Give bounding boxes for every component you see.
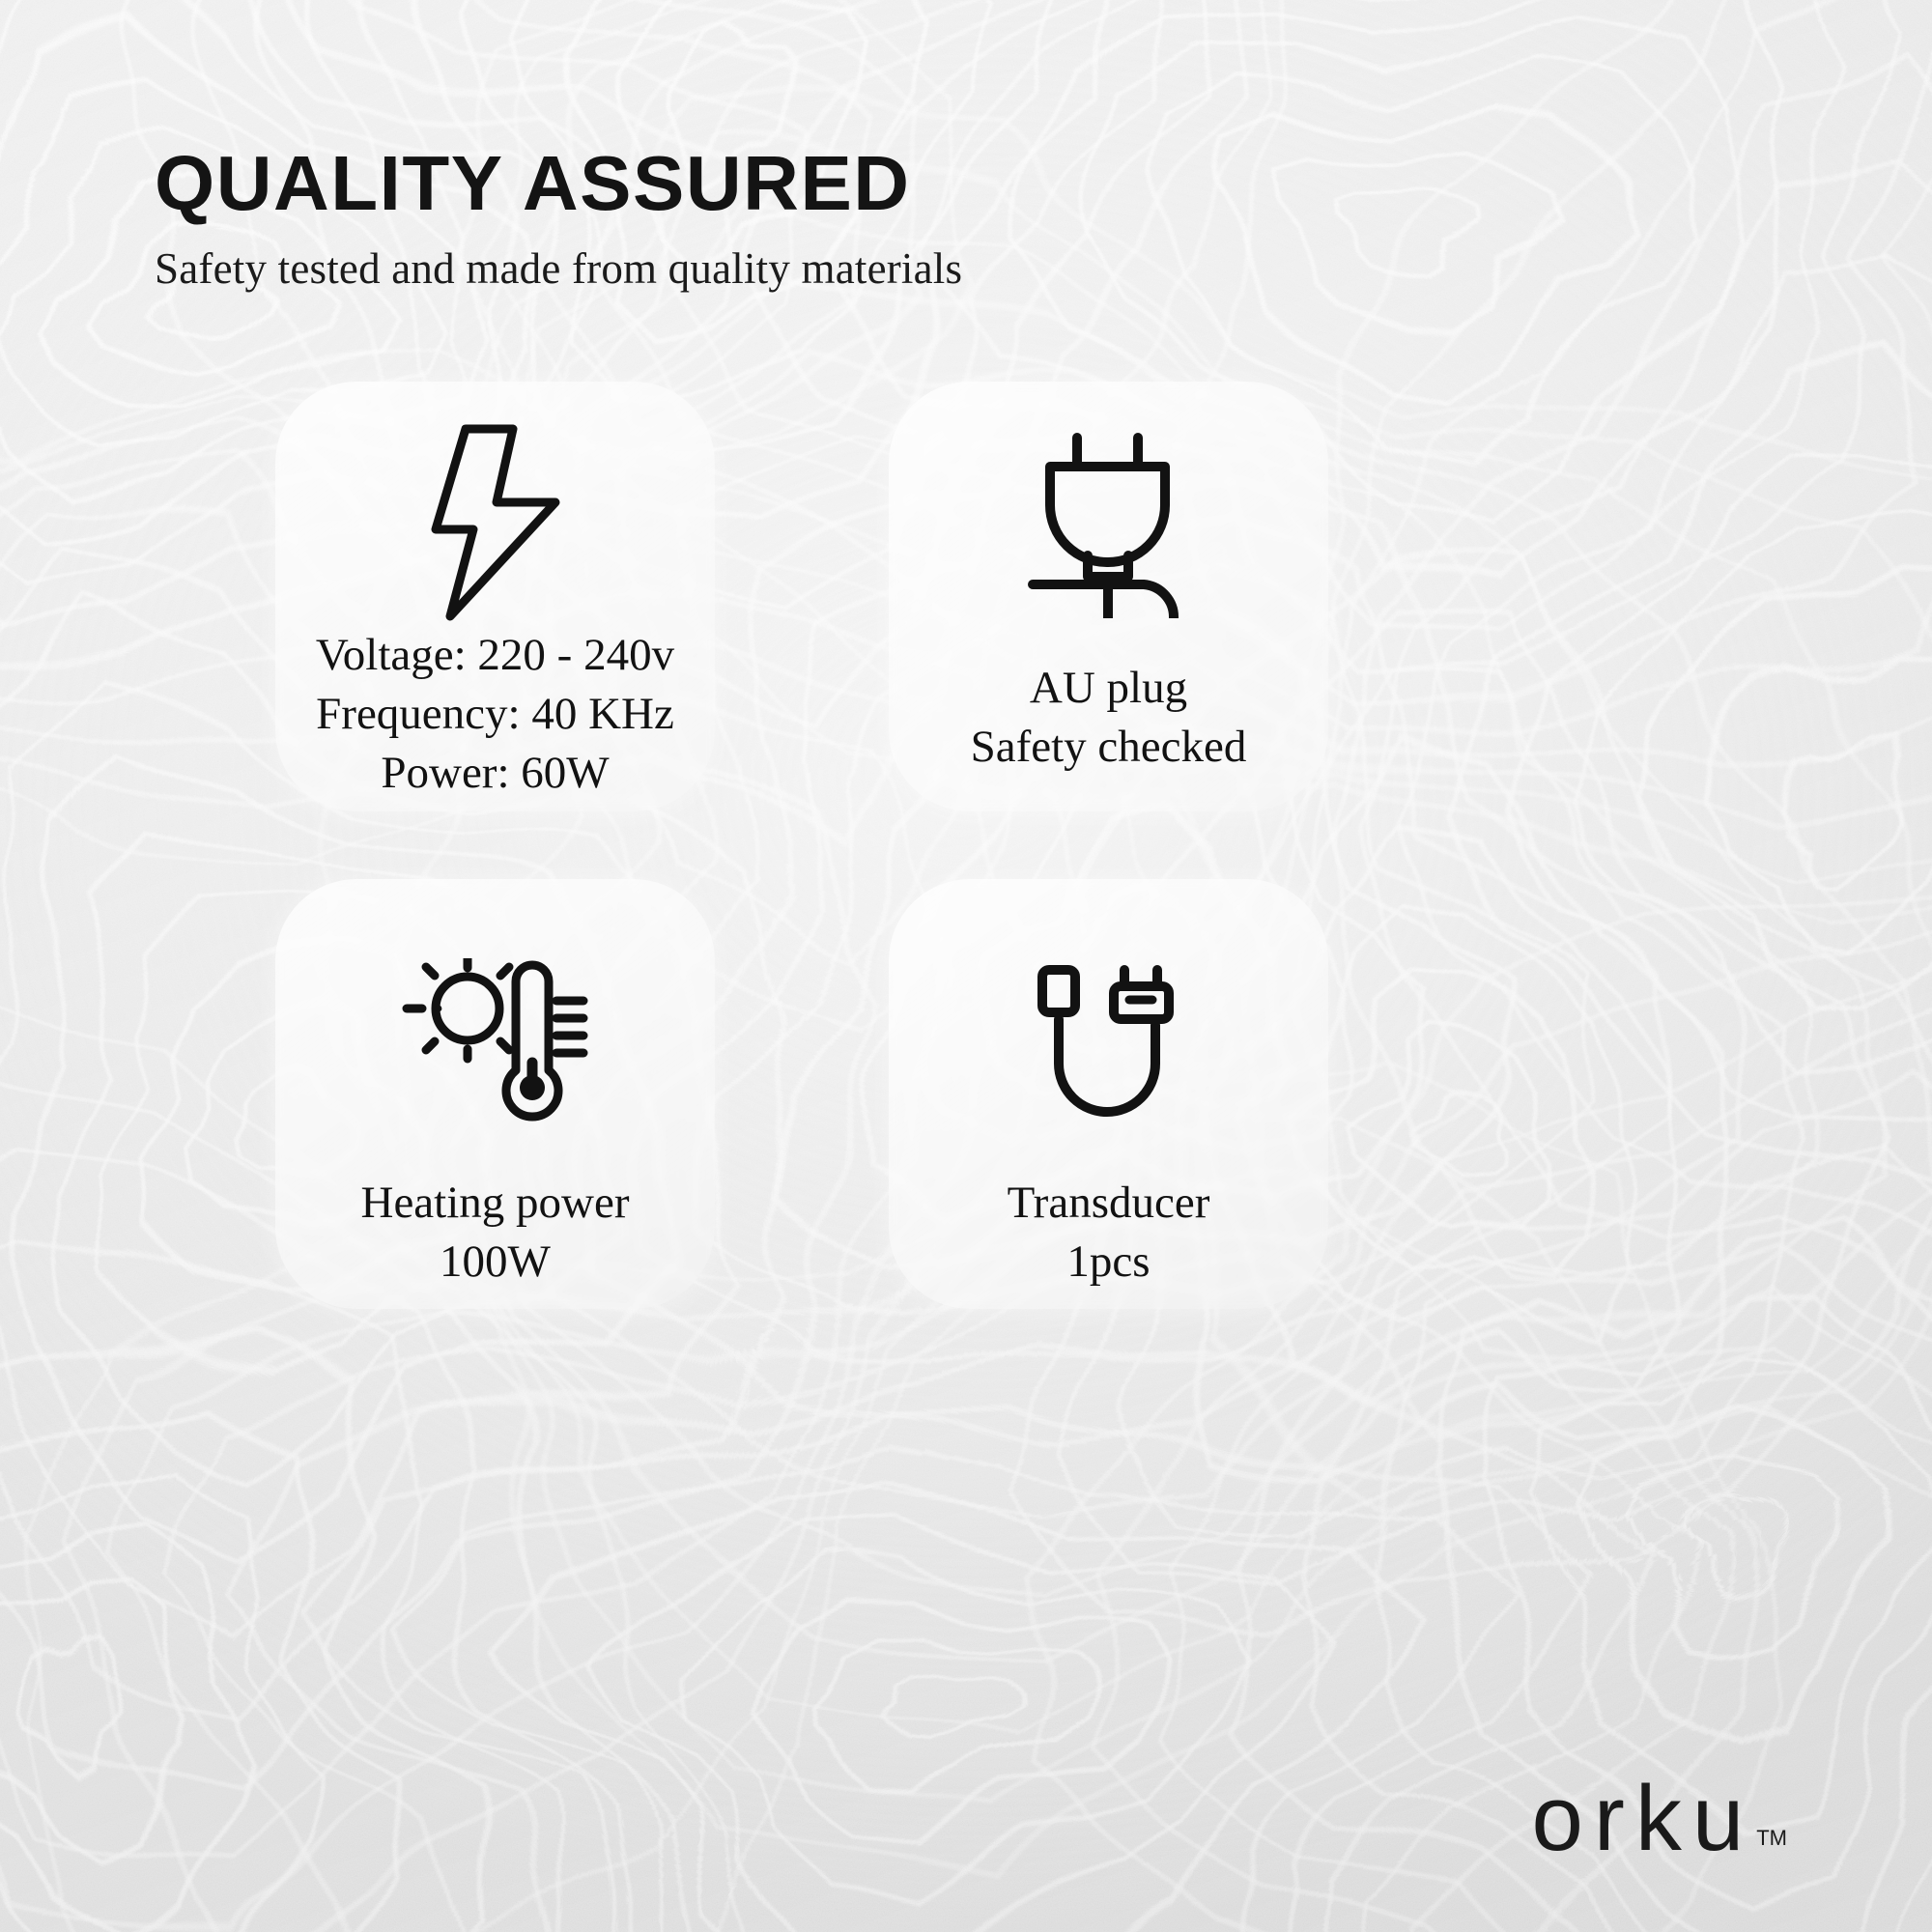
feature-card-grid: Voltage: 220 - 240v Frequency: 40 KHz Po… — [232, 382, 1710, 1309]
brand-name: orku — [1531, 1775, 1754, 1862]
card-line: Power: 60W — [316, 744, 674, 803]
transducer-cable-icon — [1029, 939, 1188, 1147]
card-line: 1pcs — [1008, 1233, 1210, 1292]
feature-card-heating: Heating power 100W — [275, 879, 715, 1309]
card-line: AU plug — [971, 659, 1247, 718]
infographic-page: QUALITY ASSURED Safety tested and made f… — [0, 0, 1932, 1932]
card-line: Frequency: 40 KHz — [316, 685, 674, 744]
card-line: Safety checked — [971, 718, 1247, 777]
trademark-symbol: TM — [1756, 1826, 1787, 1851]
card-line: 100W — [361, 1233, 630, 1292]
page-subtitle: Safety tested and made from quality mate… — [155, 245, 1410, 294]
lightning-bolt-icon — [423, 418, 568, 626]
page-title: QUALITY ASSURED — [155, 145, 1410, 222]
thermometer-sun-icon — [394, 939, 597, 1147]
card-line: Transducer — [1008, 1174, 1210, 1233]
card-line: Voltage: 220 - 240v — [316, 626, 674, 685]
feature-card-specs: Voltage: 220 - 240v Frequency: 40 KHz Po… — [275, 382, 715, 811]
card-text-heating: Heating power 100W — [361, 1174, 630, 1292]
card-text-specs: Voltage: 220 - 240v Frequency: 40 KHz Po… — [316, 626, 674, 803]
card-line: Heating power — [361, 1174, 630, 1233]
feature-card-transducer: Transducer 1pcs — [889, 879, 1328, 1309]
brand-logo: orku TM — [1531, 1775, 1787, 1862]
card-text-transducer: Transducer 1pcs — [1008, 1174, 1210, 1292]
power-plug-icon — [1024, 420, 1193, 628]
card-text-plug: AU plug Safety checked — [971, 659, 1247, 777]
feature-card-plug: AU plug Safety checked — [889, 382, 1328, 811]
header: QUALITY ASSURED Safety tested and made f… — [155, 145, 1410, 294]
